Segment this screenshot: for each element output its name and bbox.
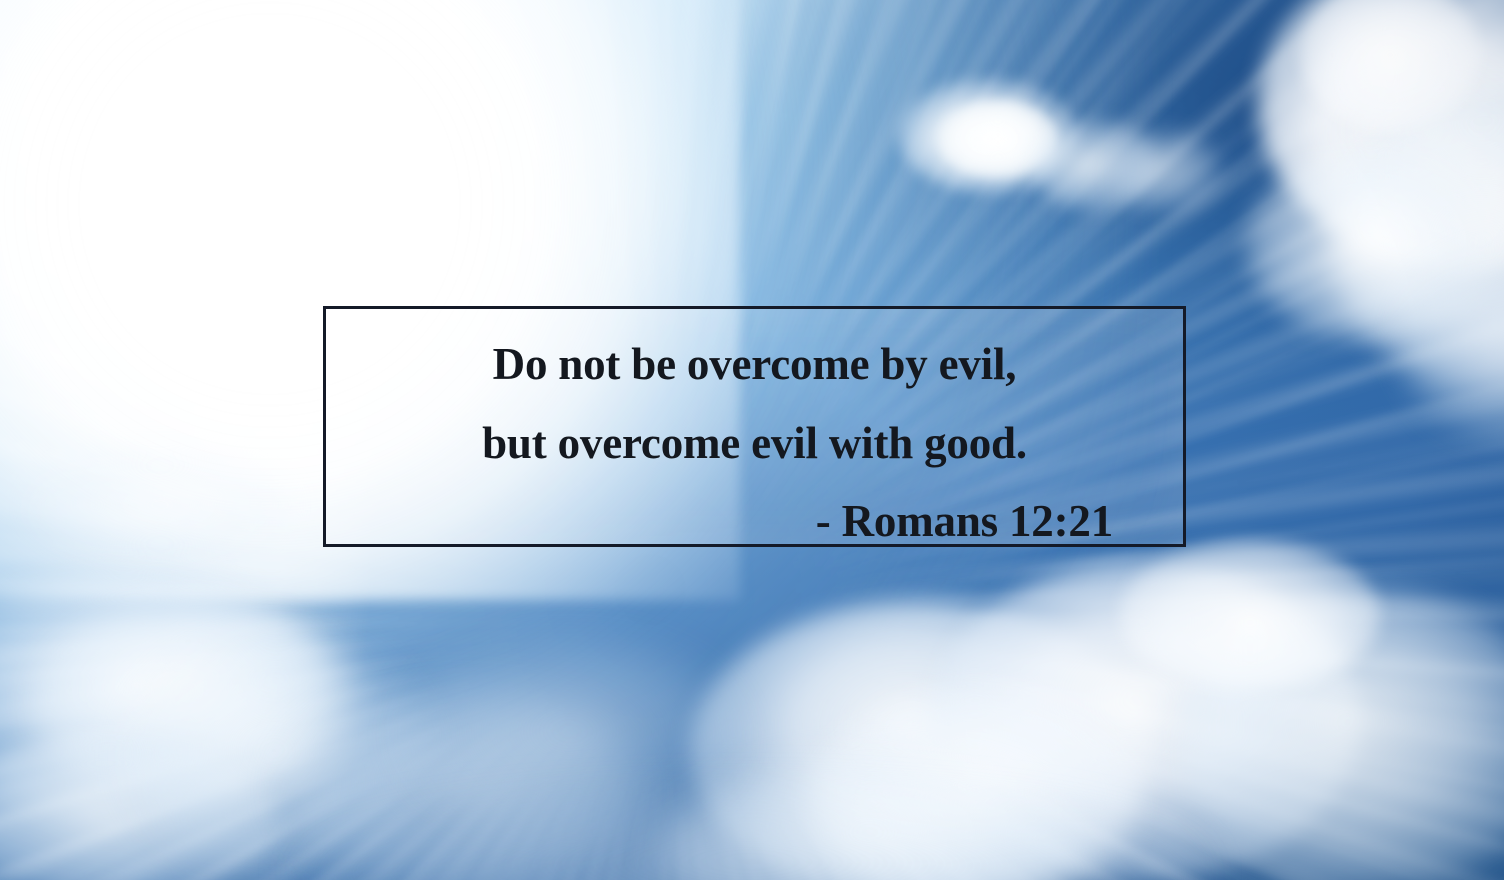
quote-attribution: - Romans 12:21 [372,499,1137,544]
quote-text-container: Do not be overcome by evil, but overcome… [326,309,1183,544]
quote-line-1: Do not be overcome by evil, [372,342,1137,387]
scripture-quote-box: Do not be overcome by evil, but overcome… [323,306,1186,547]
scripture-image: Do not be overcome by evil, but overcome… [0,0,1504,880]
quote-line-2: but overcome evil with good. [372,421,1137,466]
